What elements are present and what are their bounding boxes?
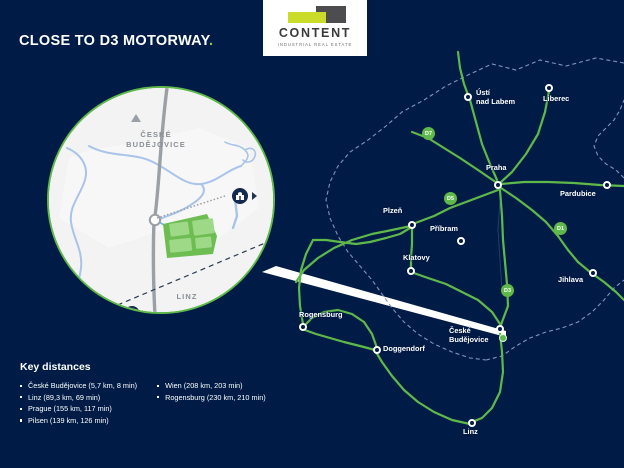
city-dot-doggendorf[interactable] <box>373 346 381 354</box>
list-item: Wien (208 km, 203 min) <box>157 380 266 392</box>
list-item: Prague (155 km, 117 min) <box>20 403 137 415</box>
list-item: Pilsen (139 km, 126 min) <box>20 415 137 427</box>
slide-root: CLOSE TO D3 MOTORWAY. CONTENT INDUSTRIAL… <box>0 0 624 468</box>
city-label-praha: Praha <box>486 164 507 173</box>
city-label-line2: nad Labem <box>476 97 515 106</box>
list-item: Rogensburg (230 km, 210 min) <box>157 392 266 404</box>
city-label-line2: Budějovice <box>449 335 488 344</box>
city-label-rogensburg: Rogensburg <box>299 311 343 320</box>
city-label-liberec: Liberec <box>543 95 569 104</box>
city-dot-linz[interactable] <box>468 419 476 427</box>
city-dot-liberec[interactable] <box>545 84 553 92</box>
highway-badge-d7[interactable]: D7 <box>422 127 435 140</box>
city-label-plzen: Plzeň <box>383 207 402 216</box>
project-site-marker[interactable] <box>499 334 507 342</box>
list-item: České Budějovice (5,7 km, 8 min) <box>20 380 137 392</box>
city-dot-usti-nad-labem[interactable] <box>464 93 472 101</box>
highway-badge-d1[interactable]: D1 <box>554 222 567 235</box>
highway-badge-d3[interactable]: D3 <box>501 284 514 297</box>
highway-badge-d5[interactable]: D5 <box>444 192 457 205</box>
city-dot-praha[interactable] <box>494 181 502 189</box>
key-distances-column-right: Wien (208 km, 203 min) Rogensburg (230 k… <box>157 380 266 426</box>
key-distances-columns: České Budějovice (5,7 km, 8 min) Linz (8… <box>20 380 320 426</box>
city-dot-ceske-budejovice[interactable] <box>496 325 504 333</box>
city-label-ceske-budejovice: České Budějovice <box>449 327 488 344</box>
city-label-pardubice: Pardubice <box>560 190 596 199</box>
key-distances-panel: Key distances České Budějovice (5,7 km, … <box>20 361 320 426</box>
city-dot-rogensburg[interactable] <box>299 323 307 331</box>
city-label-doggendorf: Doggendorf <box>383 345 425 354</box>
city-label-pribram: Příbram <box>430 225 458 234</box>
city-label-jihlava: Jihlava <box>558 276 583 285</box>
city-dot-klatovy[interactable] <box>407 267 415 275</box>
city-label-klatovy: Klatovy <box>403 254 430 263</box>
city-dot-pardubice[interactable] <box>603 181 611 189</box>
city-dot-jihlava[interactable] <box>589 269 597 277</box>
city-label-usti-nad-labem: Ústí nad Labem <box>476 89 515 106</box>
list-item: Linz (89,3 km, 69 min) <box>20 392 137 404</box>
city-label-linz: Linz <box>463 428 478 437</box>
key-distances-heading: Key distances <box>20 361 320 373</box>
city-dot-pribram[interactable] <box>457 237 465 245</box>
key-distances-column-left: České Budějovice (5,7 km, 8 min) Linz (8… <box>20 380 137 426</box>
city-dot-plzen[interactable] <box>408 221 416 229</box>
